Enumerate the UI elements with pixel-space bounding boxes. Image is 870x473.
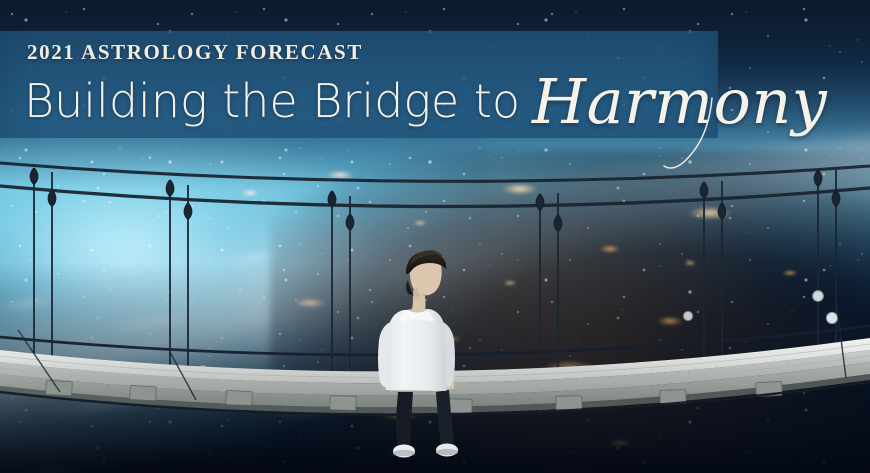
title-banner: 2021 ASTROLOGY FORECAST Building the Bri… bbox=[0, 31, 718, 138]
person-neck bbox=[412, 295, 426, 313]
person-torso bbox=[384, 309, 449, 391]
astrology-forecast-banner: 2021 ASTROLOGY FORECAST Building the Bri… bbox=[0, 0, 870, 473]
person-shoes bbox=[393, 444, 458, 458]
banner-title: Building the Bridge toHarmony bbox=[24, 65, 827, 127]
banner-title-main: Building the Bridge to bbox=[24, 74, 520, 128]
banner-kicker: 2021 ASTROLOGY FORECAST bbox=[27, 40, 363, 65]
person-legs bbox=[396, 390, 454, 445]
banner-title-script: Harmony bbox=[532, 65, 827, 138]
